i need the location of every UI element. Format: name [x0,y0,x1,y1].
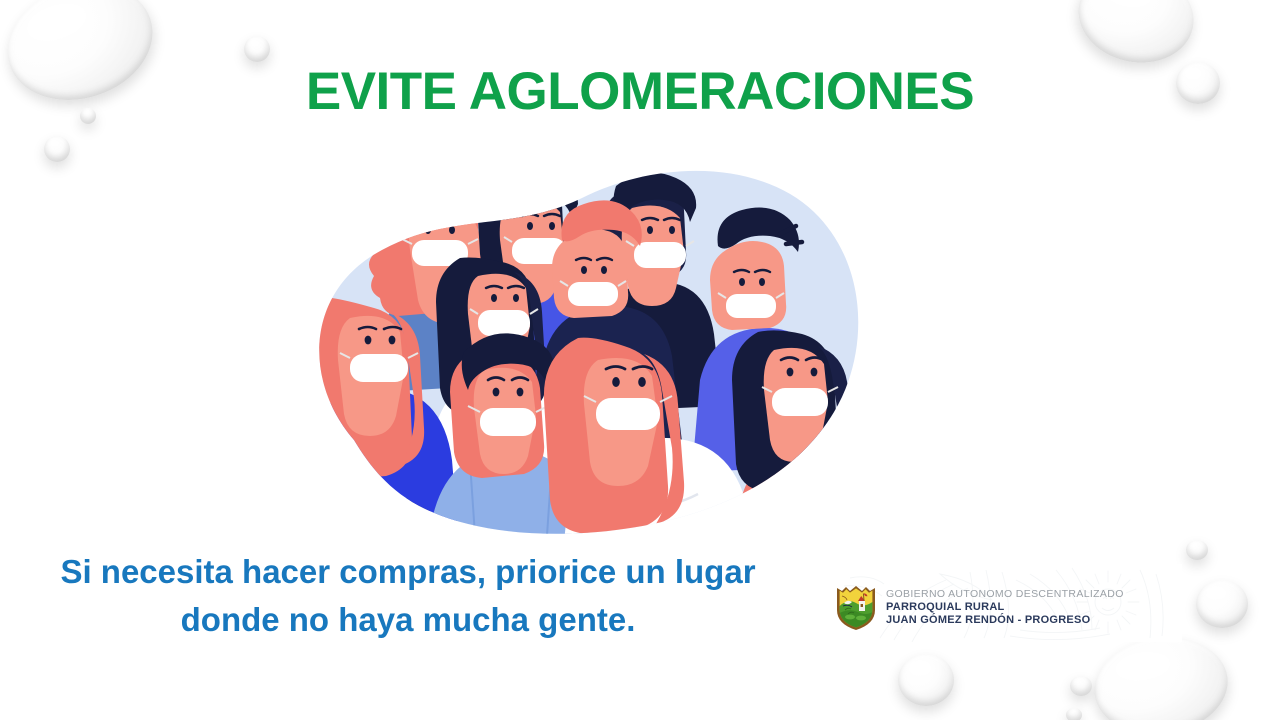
droplet-bottom-right-big [1196,580,1248,628]
institution-logo-banner: GOBIERNO AUTONOMO DESCENTRALIZADO PARROQ… [820,564,1182,642]
droplet-top-left-small [44,136,70,162]
caption-text: Si necesita hacer compras, priorice un l… [58,548,758,644]
droplet-bottom-mid-tiny [1066,708,1082,720]
slide-canvas: EVITE AGLOMERACIONES [0,0,1280,720]
page-title: EVITE AGLOMERACIONES [0,64,1280,120]
droplet-bottom-right-blob [1088,629,1234,720]
crowd-illustration [262,140,882,550]
droplet-bottom-mid-large [898,654,954,706]
droplet-bottom-mid-small [1070,676,1092,696]
droplet-top-right-large [1070,0,1203,73]
logo-row: GOBIERNO AUTONOMO DESCENTRALIZADO PARROQ… [834,584,1124,632]
droplet-top-mid-small [244,36,270,62]
coat-of-arms-icon [834,584,878,632]
logo-text-block: GOBIERNO AUTONOMO DESCENTRALIZADO PARROQ… [886,588,1124,628]
logo-line-1: GOBIERNO AUTONOMO DESCENTRALIZADO [886,588,1124,601]
droplet-mid-right-tiny [1186,540,1208,560]
logo-line-3: JUAN GÓMEZ RENDÓN - PROGRESO [886,614,1124,627]
logo-line-2: PARROQUIAL RURAL [886,601,1124,614]
